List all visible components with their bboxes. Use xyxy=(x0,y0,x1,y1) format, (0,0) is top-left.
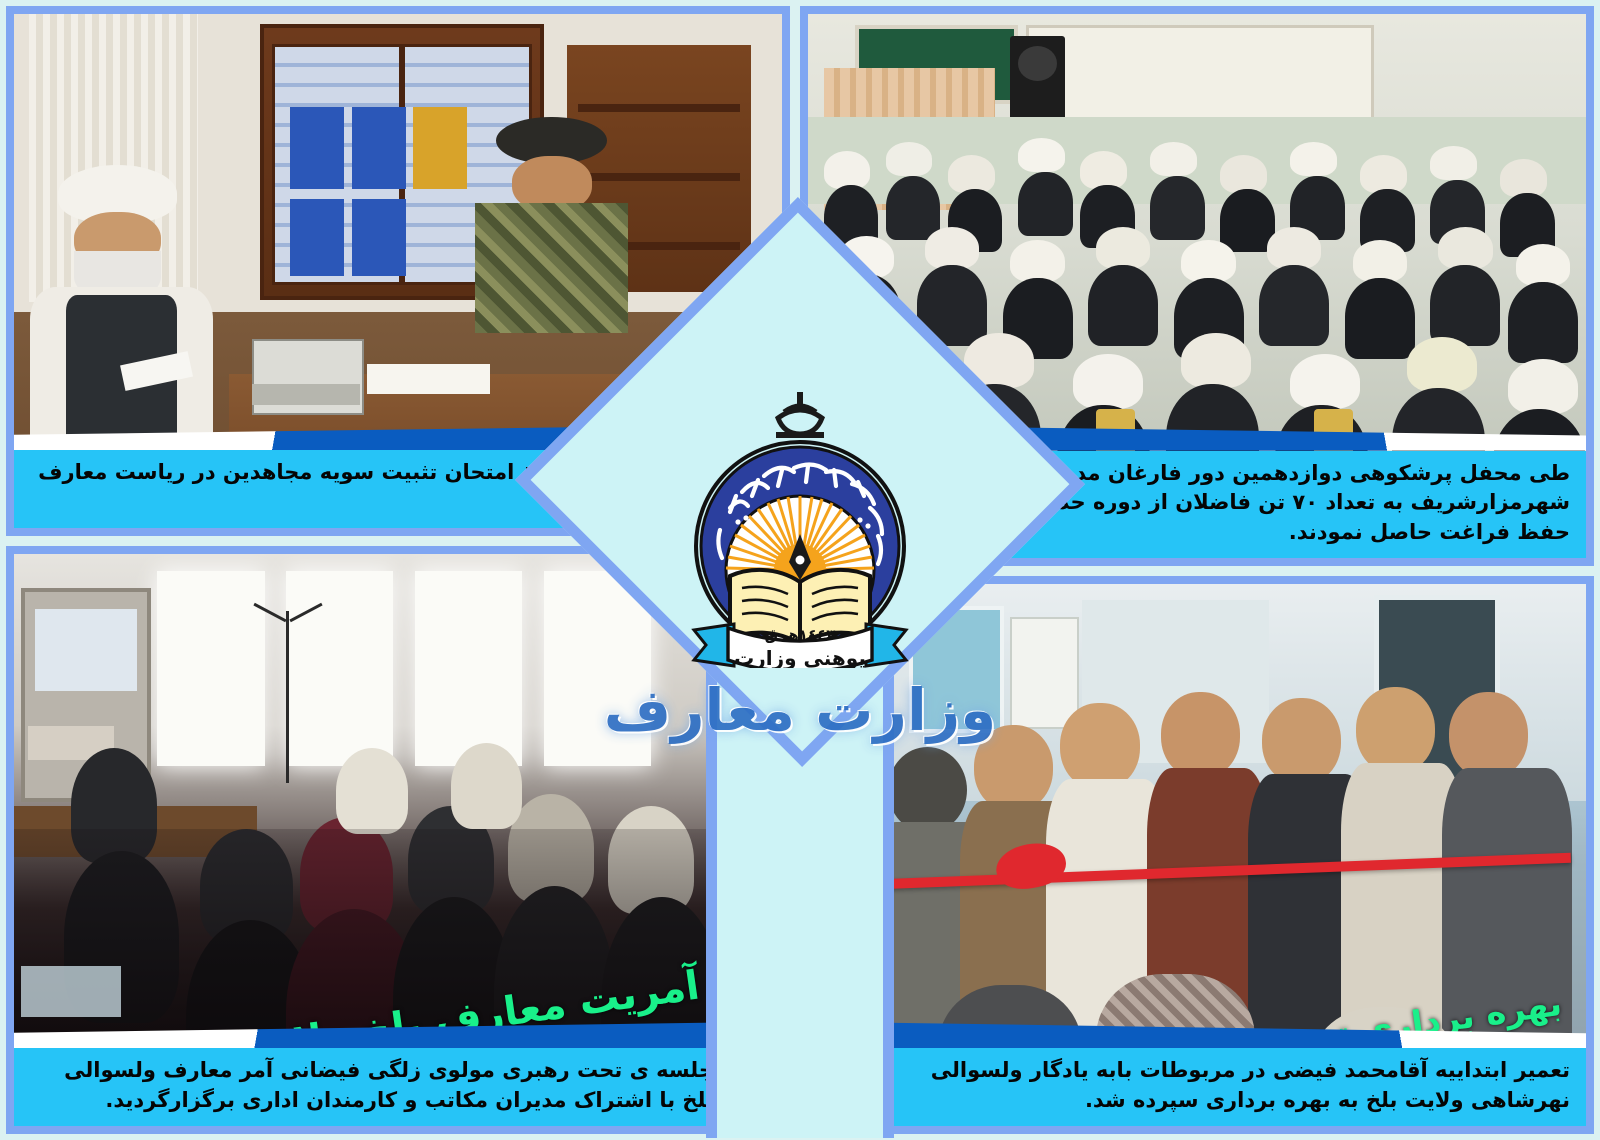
seal-banner-text: پوهنې وزارت xyxy=(734,646,866,668)
caption-bottom-right: تعمیر ابتداییه آقامحمد فیضی در مربوطات ب… xyxy=(866,1048,1586,1126)
ministry-watermark-text: وزارت معارف xyxy=(600,676,1000,744)
poster-canvas: جلسه توزیع فورم و اخذ امتحان تثبیت سویه … xyxy=(0,0,1600,1140)
ministry-of-education-seal-icon: ١٤٤٣هـ ق پوهنې وزارت xyxy=(672,388,928,668)
caption-text: جلسه ی تحت رهبری مولوی زلگی فیضانی آمر م… xyxy=(64,1058,714,1112)
seal-year-text: ١٤٤٣هـ ق xyxy=(765,626,836,644)
ministry-logo: ١٤٤٣هـ ق پوهنې وزارت xyxy=(672,388,928,668)
caption-bottom-left: جلسه ی تحت رهبری مولوی زلگی فیضانی آمر م… xyxy=(14,1048,730,1126)
caption-text: تعمیر ابتداییه آقامحمد فیضی در مربوطات ب… xyxy=(931,1058,1570,1112)
